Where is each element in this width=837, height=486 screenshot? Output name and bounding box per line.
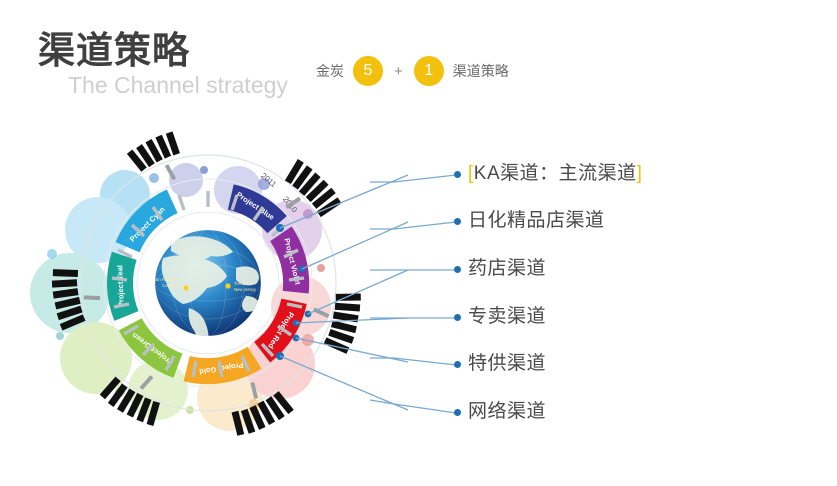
callout-dot-3: [454, 266, 461, 273]
slide-canvas: 渠道策略 The Channel strategy 金炭 5 + 1 渠道策略: [0, 0, 837, 486]
callout-dot-5: [454, 361, 461, 368]
badge-prefix-label: 金炭: [316, 61, 344, 81]
slide-header: 渠道策略 The Channel strategy 金炭 5 + 1 渠道策略: [0, 0, 837, 125]
badge-row: 金炭 5 + 1 渠道策略: [316, 55, 509, 87]
city-marker-trenton: [225, 283, 230, 288]
callout-label-1: [KA渠道：主流渠道]: [468, 159, 642, 189]
segment-label-project-teal: Project Teal: [115, 265, 125, 307]
city-label-san-francisco: San Francisco: [153, 277, 180, 282]
callout-dot-2: [454, 218, 461, 225]
city-marker-san-francisco: [183, 285, 188, 290]
title-block: 渠道策略 The Channel strategy: [38, 30, 288, 98]
badge-plus-sign: +: [392, 63, 405, 80]
badge-number-1: 1: [414, 56, 444, 86]
callout-label-4: 专卖渠道: [468, 302, 546, 332]
callout-dot-1: [454, 171, 461, 178]
page-title: 渠道策略: [38, 30, 288, 72]
callout-label-2: 日化精品店渠道: [468, 206, 605, 236]
badge-suffix-label: 渠道策略: [453, 61, 509, 81]
callout-text-1: KA渠道：主流渠道: [474, 163, 637, 184]
callout-label-3: 药店渠道: [468, 254, 546, 284]
channel-wheel-diagram: Project Blue Project Violet Project Red …: [8, 118, 408, 448]
callout-dot-6: [454, 409, 461, 416]
svg-text:California: California: [162, 283, 180, 288]
page-subtitle: The Channel strategy: [68, 72, 288, 98]
callout-dot-4: [454, 314, 461, 321]
globe-graphic: San Francisco California Trenton New Jer…: [153, 230, 261, 348]
city-label-trenton: Trenton: [234, 281, 249, 286]
channel-callout-list: [KA渠道：主流渠道] 日化精品店渠道 药店渠道 专卖渠道 特供渠道 网络渠道: [370, 150, 830, 440]
bracket-close-icon: ]: [637, 163, 643, 184]
callout-label-6: 网络渠道: [468, 397, 546, 427]
svg-text:New Jersey: New Jersey: [234, 287, 257, 292]
callout-label-5: 特供渠道: [468, 349, 546, 379]
badge-number-5: 5: [353, 56, 383, 86]
